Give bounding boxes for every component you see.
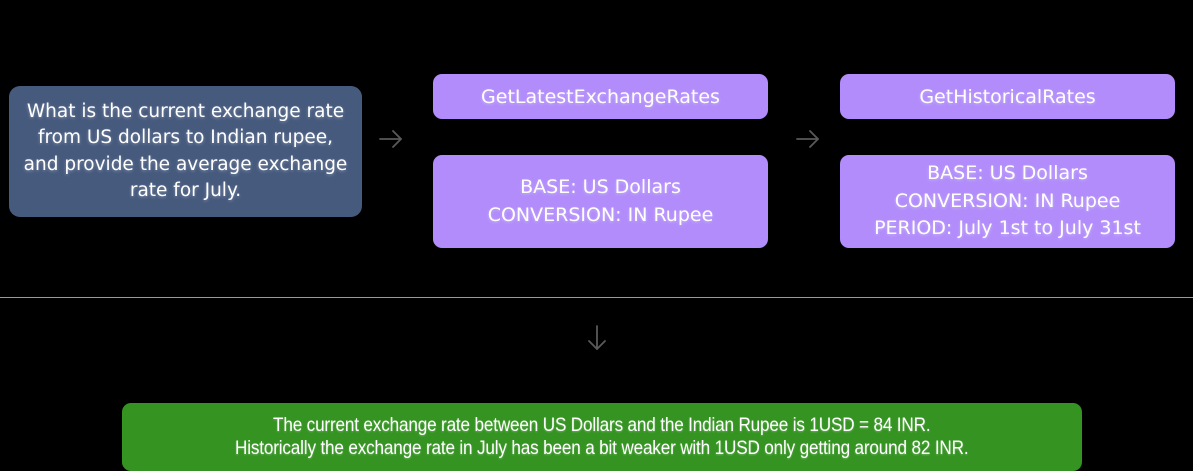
tool-name-1: GetLatestExchangeRates — [481, 84, 720, 110]
answer-text: The current exchange rate between US Dol… — [235, 414, 968, 460]
tool-param-line: BASE: US Dollars — [488, 174, 714, 202]
tool-card-header-2: GetHistoricalRates — [840, 74, 1175, 119]
tool-card-params-2: BASE: US Dollars CONVERSION: IN Rupee PE… — [840, 155, 1175, 248]
tool-param-line: CONVERSION: IN Rupee — [488, 202, 714, 230]
section-divider — [0, 297, 1193, 298]
tool-params-list-2: BASE: US Dollars CONVERSION: IN Rupee PE… — [874, 160, 1141, 243]
arrow-right-icon — [791, 122, 825, 156]
tool-params-list-1: BASE: US Dollars CONVERSION: IN Rupee — [488, 174, 714, 229]
answer-card: The current exchange rate between US Dol… — [122, 403, 1082, 471]
tool-param-line: PERIOD: July 1st to July 31st — [874, 215, 1141, 243]
tool-param-line: CONVERSION: IN Rupee — [874, 188, 1141, 216]
tool-card-header-1: GetLatestExchangeRates — [433, 74, 768, 119]
arrow-right-icon — [374, 122, 408, 156]
arrow-down-icon — [580, 320, 614, 356]
tool-name-2: GetHistoricalRates — [919, 84, 1095, 110]
question-card: What is the current exchange rate from U… — [9, 86, 362, 217]
answer-line: Historically the exchange rate in July h… — [235, 437, 968, 460]
tool-param-line: BASE: US Dollars — [874, 160, 1141, 188]
question-text: What is the current exchange rate from U… — [23, 99, 348, 205]
tool-card-params-1: BASE: US Dollars CONVERSION: IN Rupee — [433, 155, 768, 248]
answer-line: The current exchange rate between US Dol… — [235, 414, 968, 437]
